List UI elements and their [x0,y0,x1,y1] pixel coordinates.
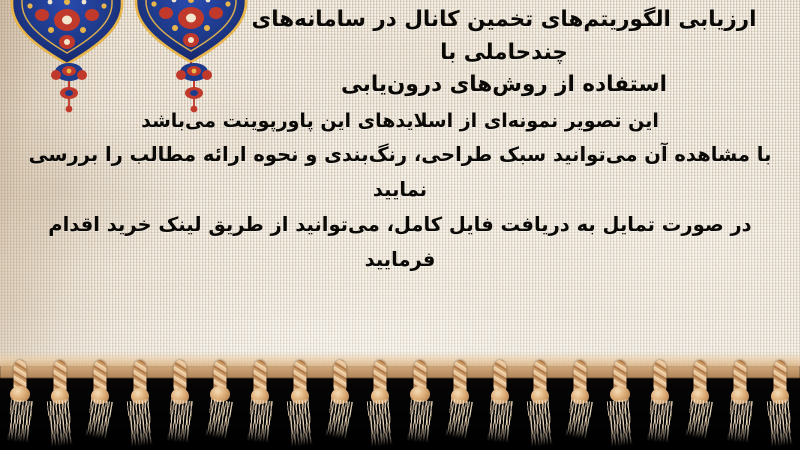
tassel-brush [445,399,473,440]
fringe-tassel [720,358,760,450]
fringe-tassel [480,358,520,450]
tassel-brush [85,399,113,440]
tassel-brush [685,399,713,440]
tassel-brush [247,399,273,443]
slide-body: این تصویر نمونه‌ای از اسلایدهای این پاور… [12,104,788,278]
tassel-brush [325,399,353,440]
fringe-tassel [320,358,360,450]
carpet-knotted-fringe [0,358,800,450]
tassel-brush [727,399,753,443]
tassel-brush [367,399,394,447]
fringe-tassel [520,358,560,450]
tassel-brush [287,399,314,447]
tassel-brush [767,399,794,447]
slide-title-line-1: ارزیابی الگوریتم‌های تخمین کانال در ساما… [251,7,756,65]
fringe-tassel [280,358,320,450]
tassel-brush [167,399,193,443]
tassel-brush [7,399,33,443]
tassel-brush [127,399,154,447]
fringe-tassel [40,358,80,450]
slide-text-layer: ارزیابی الگوریتم‌های تخمین کانال در ساما… [0,0,800,372]
fringe-tassel [360,358,400,450]
fringe-tassel [600,358,640,450]
slide-body-line-2: با مشاهده آن می‌توانید سبک طراحی، رنگ‌بن… [12,138,788,208]
tassel-brush [205,399,233,440]
slide-body-line-1: این تصویر نمونه‌ای از اسلایدهای این پاور… [12,104,788,138]
fringe-tassel [160,358,200,450]
tassel-brush [565,399,593,440]
fringe-tassel [80,358,120,450]
fringe-tassel [680,358,720,450]
slide-title: ارزیابی الگوریتم‌های تخمین کانال در ساما… [224,4,784,102]
slide-title-line-2: استفاده از روش‌های درون‌یابی [341,72,667,97]
fringe-tassel [760,358,800,450]
fringe-tassel [120,358,160,450]
tassel-brush [527,399,554,447]
fringe-tassel [240,358,280,450]
tassel-brush [487,399,513,443]
fringe-tassel [0,358,40,450]
tassel-brush [607,399,634,447]
fringe-tassel [400,358,440,450]
fringe-tassel [560,358,600,450]
fringe-tassel [640,358,680,450]
tassel-brush [47,399,74,447]
fringe-tassel [200,358,240,450]
fringe-tassel [440,358,480,450]
slide-body-line-3: در صورت تمایل به دریافت فایل کامل، می‌تو… [12,208,788,278]
presentation-slide: ارزیابی الگوریتم‌های تخمین کانال در ساما… [0,0,800,450]
tassel-brush [647,399,673,443]
tassel-brush [407,399,433,443]
